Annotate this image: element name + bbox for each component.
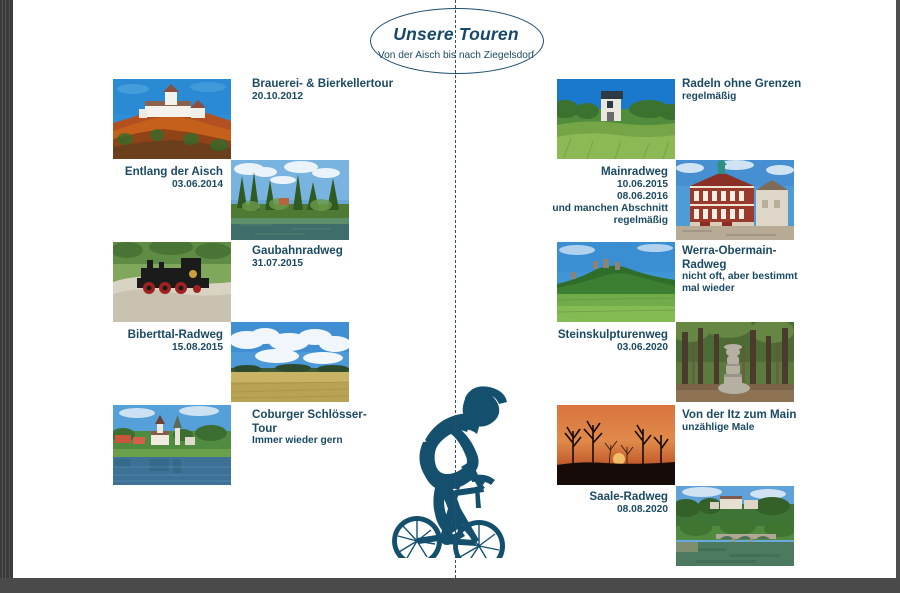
caption-title: Entlang der Aisch xyxy=(33,165,223,179)
caption-detail: 15.08.2015 xyxy=(33,342,223,354)
caption-detail: 31.07.2015 xyxy=(252,258,432,270)
photo-river-bridge-castle xyxy=(676,486,794,566)
caption-brauerei-bierkellertour: Brauerei- & Bierkellertour 20.10.2012 xyxy=(252,77,432,103)
caption-detail: unzählige Male xyxy=(682,422,872,434)
caption-detail: 03.06.2020 xyxy=(483,342,668,354)
caption-steinskulpturenweg: Steinskulpturenweg 03.06.2020 xyxy=(483,328,668,354)
photo-castle-village-lake xyxy=(113,405,231,485)
caption-werra-obermain-radweg: Werra-Obermain- Radweg nicht oft, aber b… xyxy=(682,244,877,295)
caption-gaubahnradweg: Gaubahnradweg 31.07.2015 xyxy=(252,244,432,270)
photo-watchtower-meadow xyxy=(557,79,675,159)
caption-title: Steinskulpturenweg xyxy=(483,328,668,342)
caption-radeln-ohne-grenzen: Radeln ohne Grenzen regelmäßig xyxy=(682,77,872,103)
caption-title: Biberttal-Radweg xyxy=(33,328,223,342)
photo-wheat-field-clouds xyxy=(231,322,349,402)
photo-stone-cairn-forest xyxy=(676,322,794,402)
flyer-page: Unsere Touren Von der Aisch bis nach Zie… xyxy=(13,0,896,578)
center-fold-dashed-line xyxy=(455,0,456,578)
caption-title: Brauerei- & Bierkellertour xyxy=(252,77,432,91)
window-right-chrome xyxy=(896,0,900,593)
caption-mainradweg: Mainradweg 10.06.2015 08.06.2016 und man… xyxy=(483,165,668,227)
caption-detail: nicht oft, aber bestimmt mal wieder xyxy=(682,271,877,295)
page-subtitle: Von der Aisch bis nach Ziegelsdorf xyxy=(350,50,562,61)
caption-detail: regelmäßig xyxy=(682,91,872,103)
caption-title: Mainradweg xyxy=(483,165,668,179)
caption-von-der-itz-zum-main: Von der Itz zum Main unzählige Male xyxy=(682,408,872,434)
caption-title: Radeln ohne Grenzen xyxy=(682,77,872,91)
caption-entlang-der-aisch: Entlang der Aisch 03.06.2014 xyxy=(33,165,223,191)
caption-biberttal-radweg: Biberttal-Radweg 15.08.2015 xyxy=(33,328,223,354)
photo-green-hill-ruin xyxy=(557,242,675,322)
caption-detail: 10.06.2015 08.06.2016 und manchen Abschn… xyxy=(483,179,668,227)
page-title: Unsere Touren xyxy=(370,24,542,45)
window-bottom-chrome xyxy=(0,578,900,593)
photo-sunset-trees xyxy=(557,405,675,485)
caption-title: Werra-Obermain- Radweg xyxy=(682,244,877,271)
caption-detail: 03.06.2014 xyxy=(33,179,223,191)
mountain-biker-silhouette xyxy=(383,368,513,558)
document-viewer: Unsere Touren Von der Aisch bis nach Zie… xyxy=(0,0,900,593)
caption-detail: 20.10.2012 xyxy=(252,91,432,103)
caption-title: Von der Itz zum Main xyxy=(682,408,872,422)
photo-timberframe-townhall xyxy=(676,160,794,240)
window-left-chrome xyxy=(0,0,13,593)
photo-castle-autumn-hill xyxy=(113,79,231,159)
photo-steam-locomotive-sculpture xyxy=(113,242,231,322)
caption-title: Gaubahnradweg xyxy=(252,244,432,258)
photo-river-trees-pond xyxy=(231,160,349,240)
